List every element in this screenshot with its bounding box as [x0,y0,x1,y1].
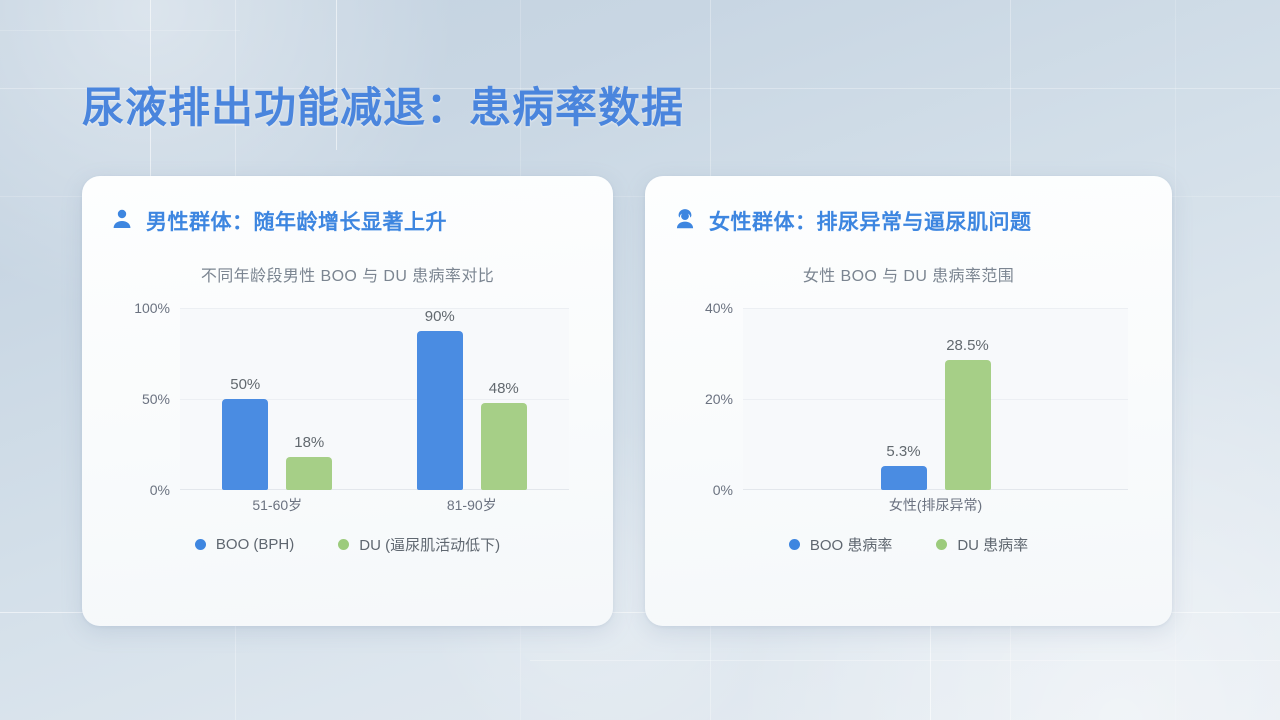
female-chart-title: 女性 BOO 与 DU 患病率范围 [645,262,1172,286]
bar-value-du-51-60: 18% [294,434,324,451]
female-ytick-1: 20% [705,391,733,407]
bar-boo-81-90[interactable] [417,331,463,490]
bar-boo-female[interactable] [881,466,927,490]
male-plot: 100% 50% 0% 50% 18% [180,308,569,490]
female-card-heading: 女性群体：排尿异常与逼尿肌问题 [709,206,1032,236]
bar-slot-boo-51-60[interactable]: 50% [222,308,268,490]
bar-du-female[interactable] [945,360,991,490]
female-ytick-2: 40% [705,300,733,316]
male-card-header: 男性群体：随年龄增长显著上升 [82,176,613,236]
legend-dot-blue-icon [789,539,800,550]
bar-du-81-90[interactable] [481,403,527,490]
male-chart-legend: BOO (BPH) DU (逼尿肌活动低下) [82,534,613,555]
male-person-icon [110,207,134,236]
bar-value-du-female: 28.5% [946,337,989,354]
male-legend-item-du[interactable]: DU (逼尿肌活动低下) [338,534,500,555]
male-statistics-card: 男性群体：随年龄增长显著上升 不同年龄段男性 BOO 与 DU 患病率对比 10… [82,176,613,626]
bar-value-boo-female: 5.3% [886,443,920,460]
bar-value-du-81-90: 48% [489,380,519,397]
female-legend-item-du[interactable]: DU 患病率 [936,534,1028,555]
bar-slot-boo-female[interactable]: 5.3% [881,308,927,490]
female-plot: 40% 20% 0% 5.3% 28.5% [743,308,1128,490]
bar-slot-boo-81-90[interactable]: 90% [417,308,463,490]
male-xlabel-0: 51-60岁 [252,495,302,515]
male-x-axis-labels: 51-60岁 81-90岁 [180,492,569,518]
legend-dot-green-icon [338,539,349,550]
slide-canvas: 尿液排出功能减退：患病率数据 男性群体：随年龄增长显著上升 不同年龄段男性 BO… [0,0,1280,720]
bar-slot-du-81-90[interactable]: 48% [481,308,527,490]
female-bar-groups: 5.3% 28.5% [743,308,1128,490]
bar-value-boo-51-60: 50% [230,376,260,393]
female-card-header: 女性群体：排尿异常与逼尿肌问题 [645,176,1172,236]
page-title: 尿液排出功能减退：患病率数据 [82,74,684,135]
male-group-51-60: 50% 18% [222,308,332,490]
female-legend-label-boo: BOO 患病率 [810,534,893,555]
male-card-heading: 男性群体：随年龄增长显著上升 [146,206,447,236]
male-legend-item-boo[interactable]: BOO (BPH) [195,534,294,555]
female-chart-plot-area: 40% 20% 0% 5.3% 28.5% [671,308,1146,518]
bar-slot-du-female[interactable]: 28.5% [945,308,991,490]
female-person-icon [673,207,697,236]
bar-value-boo-81-90: 90% [425,308,455,325]
male-legend-label-boo: BOO (BPH) [216,536,294,553]
female-legend-item-boo[interactable]: BOO 患病率 [789,534,893,555]
male-ytick-0: 0% [150,482,170,498]
male-bar-groups: 50% 18% 90% [180,308,569,490]
legend-dot-green-icon [936,539,947,550]
bar-boo-51-60[interactable] [222,399,268,490]
male-group-81-90: 90% 48% [417,308,527,490]
bar-slot-du-51-60[interactable]: 18% [286,308,332,490]
female-ytick-0: 0% [713,482,733,498]
male-xlabel-1: 81-90岁 [447,495,497,515]
male-ytick-2: 100% [134,300,170,316]
female-xlabel-0: 女性(排尿异常) [889,495,982,515]
female-x-axis-labels: 女性(排尿异常) [743,492,1128,518]
male-ytick-1: 50% [142,391,170,407]
legend-dot-blue-icon [195,539,206,550]
male-chart-plot-area: 100% 50% 0% 50% 18% [108,308,587,518]
bar-du-51-60[interactable] [286,457,332,490]
male-chart-title: 不同年龄段男性 BOO 与 DU 患病率对比 [82,262,613,286]
female-legend-label-du: DU 患病率 [957,534,1028,555]
female-group-abnormal-urination: 5.3% 28.5% [881,308,991,490]
male-legend-label-du: DU (逼尿肌活动低下) [359,534,500,555]
female-statistics-card: 女性群体：排尿异常与逼尿肌问题 女性 BOO 与 DU 患病率范围 40% 20… [645,176,1172,626]
female-chart-legend: BOO 患病率 DU 患病率 [645,534,1172,555]
